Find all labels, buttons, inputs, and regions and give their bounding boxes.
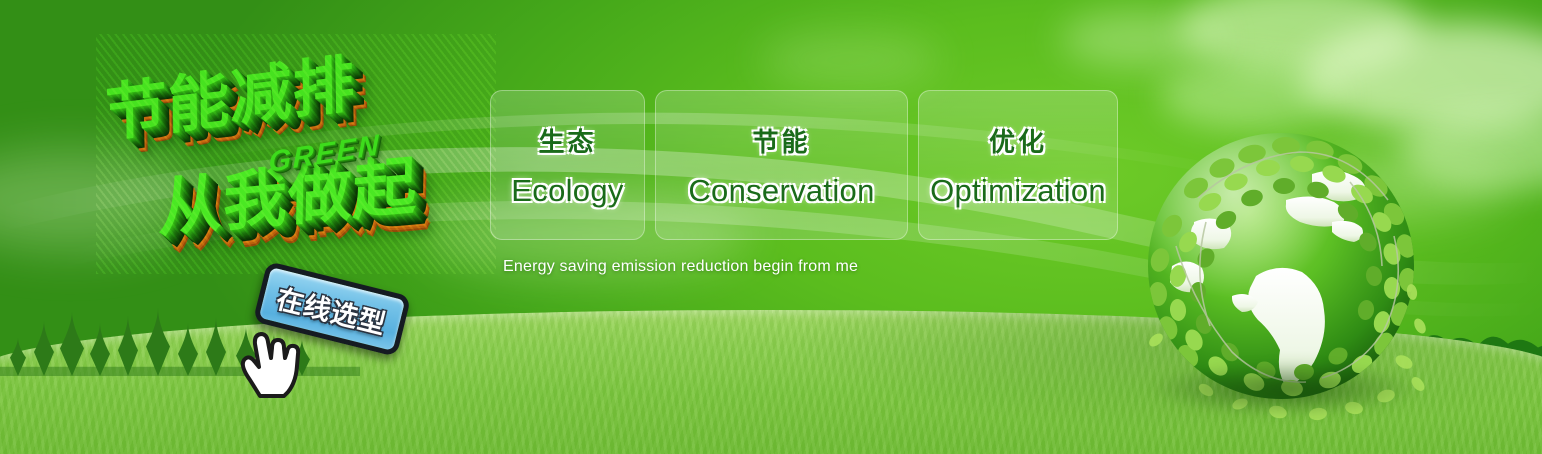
feature-card-en-label: Optimization: [930, 173, 1106, 209]
ivy-globe: [1136, 126, 1426, 426]
cloud-icon: [1160, 60, 1340, 130]
feature-card-en-label: Ecology: [511, 173, 623, 209]
feature-card-conservation[interactable]: 节能 Conservation: [655, 90, 908, 240]
feature-card-ecology[interactable]: 生态 Ecology: [490, 90, 645, 240]
cloud-icon: [1060, 10, 1220, 68]
feature-card-cn-label: 优化: [989, 122, 1047, 159]
feature-card-optimization[interactable]: 优化 Optimization: [918, 90, 1118, 240]
headline-line-1: 节能减排: [104, 32, 356, 153]
feature-card-en-label: Conservation: [688, 173, 874, 209]
eco-banner: 节能减排 从我做起 GREEN 在线选型 生态 Ecology 节能 Conse…: [0, 0, 1542, 454]
globe-ground-shadow: [1150, 362, 1418, 416]
pointing-hand-cursor-icon: [236, 322, 306, 398]
cloud-icon: [760, 30, 940, 90]
headline-3d: 节能减排 从我做起 GREEN: [96, 34, 496, 274]
feature-card-cn-label: 生态: [538, 122, 596, 159]
banner-tagline: Energy saving emission reduction begin f…: [503, 258, 858, 276]
feature-card-cn-label: 节能: [752, 122, 810, 159]
feature-card-list: 生态 Ecology 节能 Conservation 优化 Optimizati…: [490, 90, 1118, 240]
